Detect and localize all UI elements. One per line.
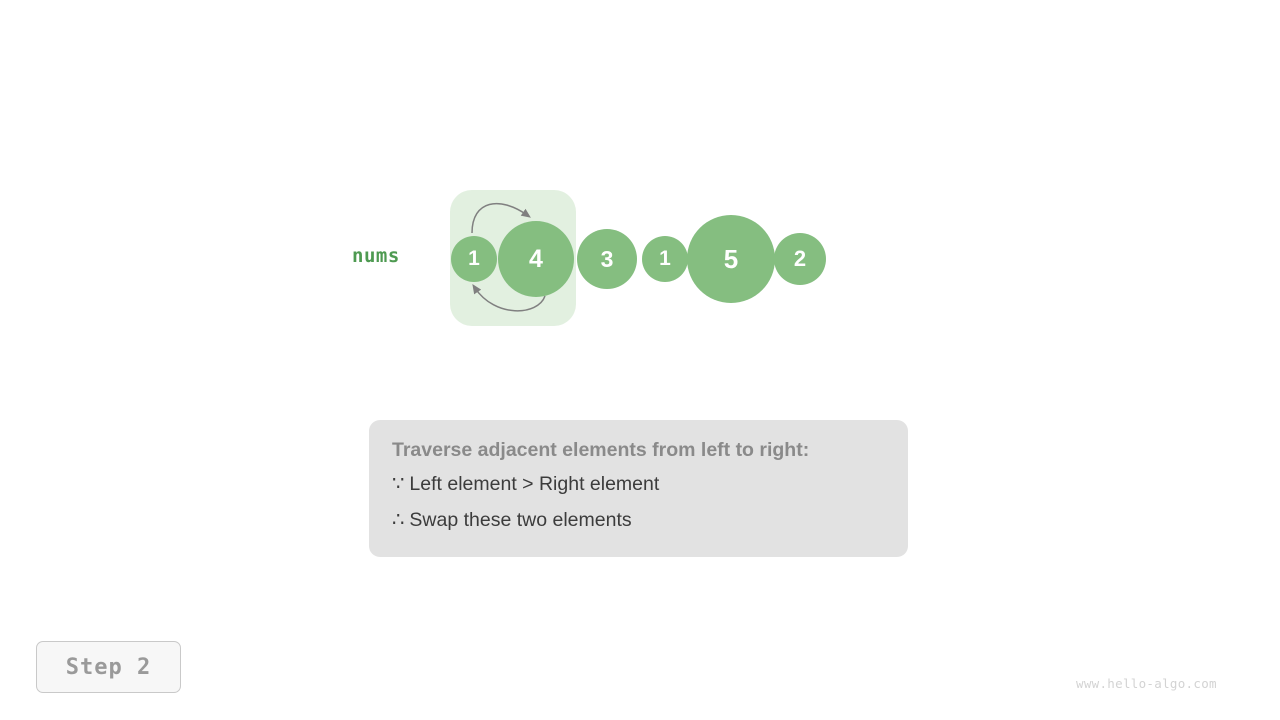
array-node: 1 — [451, 236, 497, 282]
array-node-value: 5 — [724, 244, 738, 275]
description-panel: Traverse adjacent elements from left to … — [369, 420, 908, 557]
description-line-text: Left element > Right element — [409, 473, 659, 495]
step-badge-label: Step 2 — [66, 655, 151, 680]
array-node-value: 3 — [601, 246, 614, 273]
because-symbol: ∵ — [392, 474, 404, 494]
description-line: ∵Left element > Right element — [392, 474, 885, 494]
step-badge: Step 2 — [36, 641, 181, 693]
array-node: 4 — [498, 221, 574, 297]
description-line: ∴Swap these two elements — [392, 510, 885, 530]
array-node: 1 — [642, 236, 688, 282]
description-line-text: Swap these two elements — [409, 509, 631, 531]
watermark: www.hello-algo.com — [1076, 676, 1217, 691]
array-node-value: 1 — [659, 247, 671, 271]
therefore-symbol: ∴ — [392, 510, 404, 530]
description-title: Traverse adjacent elements from left to … — [392, 440, 885, 460]
swap-arrows-group — [0, 0, 1280, 720]
array-node-value: 4 — [529, 245, 543, 274]
array-label: nums — [352, 245, 400, 267]
array-node: 5 — [687, 215, 775, 303]
array-node-value: 2 — [794, 246, 806, 272]
array-node: 3 — [577, 229, 637, 289]
array-node: 2 — [774, 233, 826, 285]
array-node-value: 1 — [468, 247, 480, 271]
diagram-canvas: nums 1 4 3 1 5 2 Traverse adjacent eleme… — [0, 0, 1280, 720]
